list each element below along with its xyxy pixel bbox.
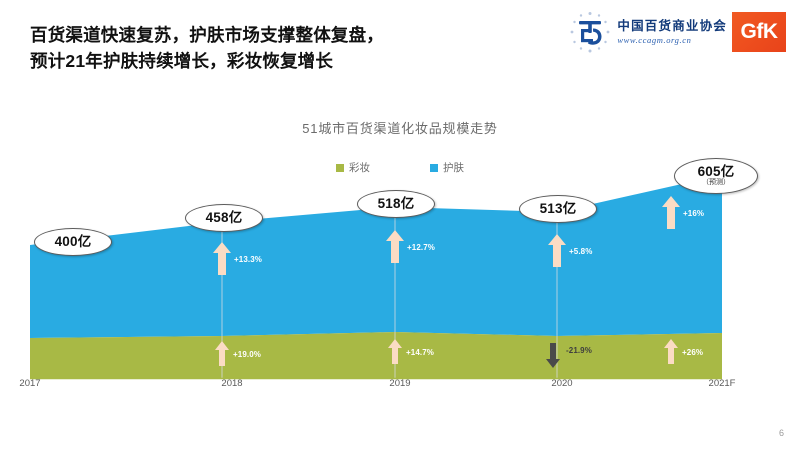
page-title: 百货渠道快速复苏，护肤市场支撑整体复盘， 预计21年护肤持续增长，彩妆恢复增长 bbox=[30, 22, 550, 74]
total-value-2017: 400亿 bbox=[55, 235, 92, 249]
total-callout-2019: 518亿 bbox=[357, 190, 435, 218]
total-value-2018: 458亿 bbox=[206, 211, 243, 225]
ccagm-url: www.ccagm.org.cn bbox=[617, 36, 727, 45]
page-number: 6 bbox=[779, 428, 784, 438]
x-axis-tick-2019: 2019 bbox=[389, 378, 410, 389]
area-makeup bbox=[30, 332, 722, 378]
ccagm-logo: 中国百货商业协会 www.ccagm.org.cn bbox=[567, 8, 727, 56]
growth-label-makeup-2018: +19.0% bbox=[233, 350, 261, 359]
slide-header: 百货渠道快速复苏，护肤市场支撑整体复盘， 预计21年护肤持续增长，彩妆恢复增长 bbox=[0, 0, 800, 92]
total-callout-2021: 605亿 （预测） bbox=[674, 158, 758, 194]
growth-label-skincare-2018: +13.3% bbox=[234, 255, 262, 264]
total-value-2020: 513亿 bbox=[540, 202, 577, 216]
total-value-2021: 605亿 bbox=[698, 165, 735, 179]
x-axis-tick-2020: 2020 bbox=[551, 378, 572, 389]
chart-plot-area: +13.3% +12.7% +5.8% +16% +19.0% +14.7% -… bbox=[0, 150, 800, 385]
x-axis: 2017 2018 2019 2020 2021F bbox=[0, 378, 800, 398]
page-title-line-1: 百货渠道快速复苏，护肤市场支撑整体复盘， bbox=[30, 22, 550, 48]
x-axis-tick-2018: 2018 bbox=[221, 378, 242, 389]
total-value-2019: 518亿 bbox=[378, 197, 415, 211]
forecast-note: （预测） bbox=[702, 179, 730, 187]
x-axis-tick-2017: 2017 bbox=[19, 378, 40, 389]
slide-root: 百货渠道快速复苏，护肤市场支撑整体复盘， 预计21年护肤持续增长，彩妆恢复增长 bbox=[0, 0, 800, 450]
growth-label-skincare-2021: +16% bbox=[683, 209, 704, 218]
total-callout-2020: 513亿 bbox=[519, 195, 597, 223]
ccagm-emblem-icon bbox=[567, 9, 613, 55]
chart-title: 51城市百货渠道化妆品规模走势 bbox=[0, 118, 800, 137]
logo-area: 中国百货商业协会 www.ccagm.org.cn GfK bbox=[567, 8, 786, 56]
page-title-line-2: 预计21年护肤持续增长，彩妆恢复增长 bbox=[30, 48, 550, 74]
growth-label-skincare-2019: +12.7% bbox=[407, 243, 435, 252]
growth-label-makeup-2021: +26% bbox=[682, 348, 703, 357]
ccagm-logo-text: 中国百货商业协会 www.ccagm.org.cn bbox=[617, 20, 727, 44]
x-axis-tick-2021: 2021F bbox=[709, 378, 736, 389]
growth-label-skincare-2020: +5.8% bbox=[569, 247, 592, 256]
total-callout-2018: 458亿 bbox=[185, 204, 263, 232]
growth-label-makeup-2019: +14.7% bbox=[406, 348, 434, 357]
ccagm-name: 中国百货商业协会 bbox=[617, 20, 727, 33]
gfk-logo: GfK bbox=[732, 12, 786, 52]
growth-label-makeup-2020: -21.9% bbox=[566, 346, 592, 355]
total-callout-2017: 400亿 bbox=[34, 228, 112, 256]
